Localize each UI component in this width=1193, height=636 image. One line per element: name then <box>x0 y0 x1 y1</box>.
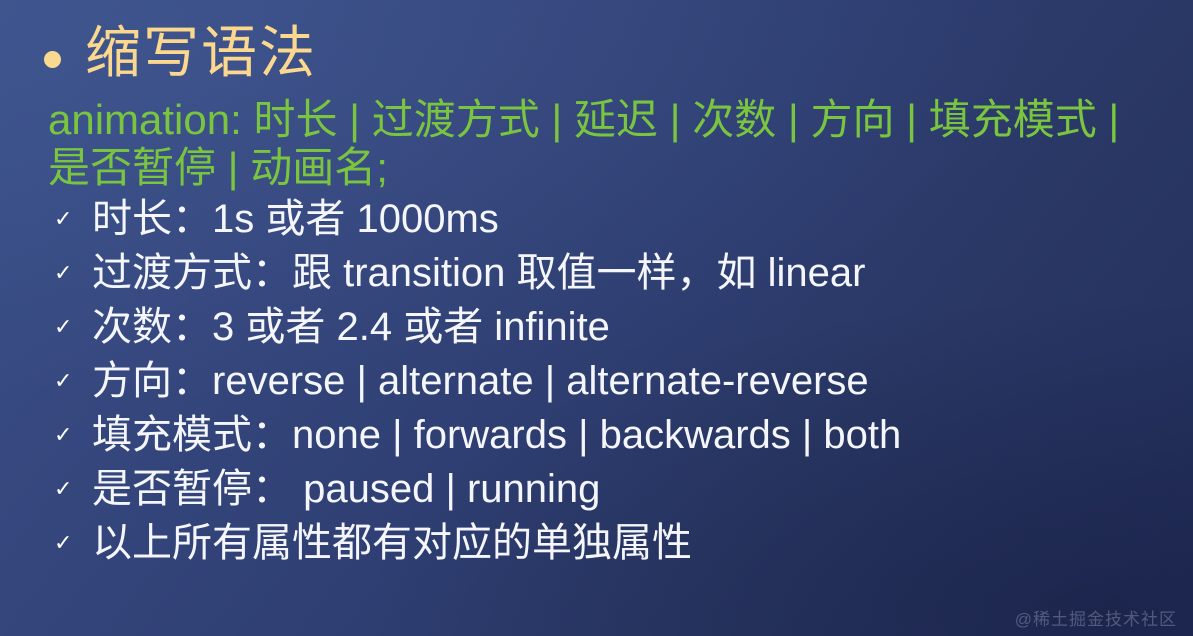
watermark: @稀土掘金技术社区 <box>1015 605 1177 630</box>
list-item: ✓ 是否暂停： paused | running <box>46 462 1176 516</box>
list-item: ✓ 时长：1s 或者 1000ms <box>46 192 1176 246</box>
list-item-label: 以上所有属性都有对应的单独属性 <box>92 516 692 570</box>
checkmark-icon: ✓ <box>46 354 92 408</box>
slide-content: 缩写语法 animation: 时长 | 过渡方式 | 延迟 | 次数 | 方向… <box>0 0 1193 636</box>
slide-title-row: 缩写语法 <box>44 12 317 94</box>
checkmark-icon: ✓ <box>46 300 92 354</box>
list-item: ✓ 填充模式：none | forwards | backwards | bot… <box>46 408 1176 462</box>
checkmark-icon: ✓ <box>46 462 92 516</box>
checkmark-icon: ✓ <box>46 246 92 300</box>
page-title: 缩写语法 <box>85 25 317 81</box>
bullet-dot-icon <box>44 51 61 68</box>
list-item-label: 过渡方式：跟 transition 取值一样，如 linear <box>92 246 865 300</box>
list-item-label: 时长：1s 或者 1000ms <box>92 192 499 246</box>
list-item-label: 是否暂停： paused | running <box>92 462 600 516</box>
checkmark-icon: ✓ <box>46 192 92 246</box>
list-item-label: 填充模式：none | forwards | backwards | both <box>92 408 901 462</box>
checkmark-icon: ✓ <box>46 408 92 462</box>
list-item-label: 次数：3 或者 2.4 或者 infinite <box>92 300 610 354</box>
list-item: ✓ 次数：3 或者 2.4 或者 infinite <box>46 300 1176 354</box>
property-list: ✓ 时长：1s 或者 1000ms ✓ 过渡方式：跟 transition 取值… <box>46 192 1176 570</box>
list-item: ✓ 过渡方式：跟 transition 取值一样，如 linear <box>46 246 1176 300</box>
animation-shorthand-syntax: animation: 时长 | 过渡方式 | 延迟 | 次数 | 方向 | 填充… <box>48 96 1158 192</box>
list-item-label: 方向：reverse | alternate | alternate-rever… <box>92 354 869 408</box>
list-item: ✓ 方向：reverse | alternate | alternate-rev… <box>46 354 1176 408</box>
list-item: ✓ 以上所有属性都有对应的单独属性 <box>46 516 1176 570</box>
checkmark-icon: ✓ <box>46 516 92 570</box>
slide-canvas: 缩写语法 animation: 时长 | 过渡方式 | 延迟 | 次数 | 方向… <box>0 0 1193 636</box>
